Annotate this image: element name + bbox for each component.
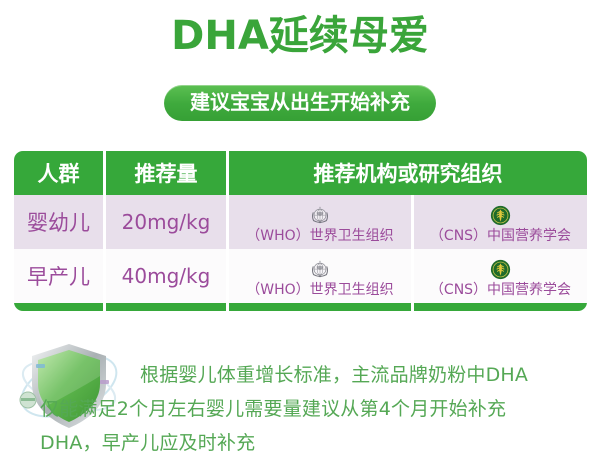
cell-group: 婴幼儿 — [14, 195, 103, 249]
footer-description: 根据婴儿体重增长标准，主流品牌奶粉中DHA 仅能满足2个月左右婴儿需要量建议从第… — [40, 358, 585, 460]
table-header-group: 人群 — [14, 151, 103, 195]
cell-amount: 20mg/kg — [106, 195, 226, 249]
org-label-cns: （CNS）中国营养学会 — [430, 229, 571, 243]
table-header-amount: 推荐量 — [106, 151, 226, 195]
footer-segment — [106, 303, 226, 311]
footer-segment — [229, 303, 411, 311]
cell-org-cns: （CNS）中国营养学会 — [414, 249, 587, 303]
cns-emblem-wrap — [414, 258, 587, 282]
cell-org-cns: （CNS）中国营养学会 — [414, 195, 587, 249]
who-emblem-icon — [309, 259, 331, 281]
cell-group: 早产儿 — [14, 249, 103, 303]
cns-emblem-icon — [490, 259, 511, 280]
footer-segment — [414, 303, 587, 311]
who-emblem-icon — [309, 205, 331, 227]
org-label-who: （WHO）世界卫生组织 — [246, 283, 393, 297]
table-header-orgs: 推荐机构或研究组织 — [229, 151, 587, 195]
recommendation-table: 人群 推荐量 推荐机构或研究组织 婴幼儿 20mg/kg — [14, 151, 587, 311]
page-title: DHA延续母爱 — [0, 12, 600, 60]
footer-line-1: 根据婴儿体重增长标准，主流品牌奶粉中DHA — [40, 358, 585, 392]
table-footer-strip — [14, 303, 587, 311]
table-header-row: 人群 推荐量 推荐机构或研究组织 — [14, 151, 587, 195]
table-row: 早产儿 40mg/kg （WHO）世界卫生组织 — [14, 249, 587, 303]
cns-emblem-icon — [490, 205, 511, 226]
cns-emblem-wrap — [414, 204, 587, 228]
table-row: 婴幼儿 20mg/kg （WHO）世界卫生组织 — [14, 195, 587, 249]
cell-org-who: （WHO）世界卫生组织 — [229, 249, 411, 303]
footer-line-2: 仅能满足2个月左右婴儿需要量建议从第4个月开始补充 — [40, 392, 585, 426]
footer-segment — [14, 303, 103, 311]
footer-line-3: DHA，早产儿应及时补充 — [40, 426, 585, 460]
subtitle-pill-container: 建议宝宝从出生开始补充 — [0, 85, 600, 121]
org-label-who: （WHO）世界卫生组织 — [246, 229, 393, 243]
org-label-cns: （CNS）中国营养学会 — [430, 283, 571, 297]
who-emblem-wrap — [229, 204, 411, 228]
who-emblem-wrap — [229, 258, 411, 282]
cell-org-who: （WHO）世界卫生组织 — [229, 195, 411, 249]
subtitle-pill: 建议宝宝从出生开始补充 — [164, 85, 436, 121]
cell-amount: 40mg/kg — [106, 249, 226, 303]
